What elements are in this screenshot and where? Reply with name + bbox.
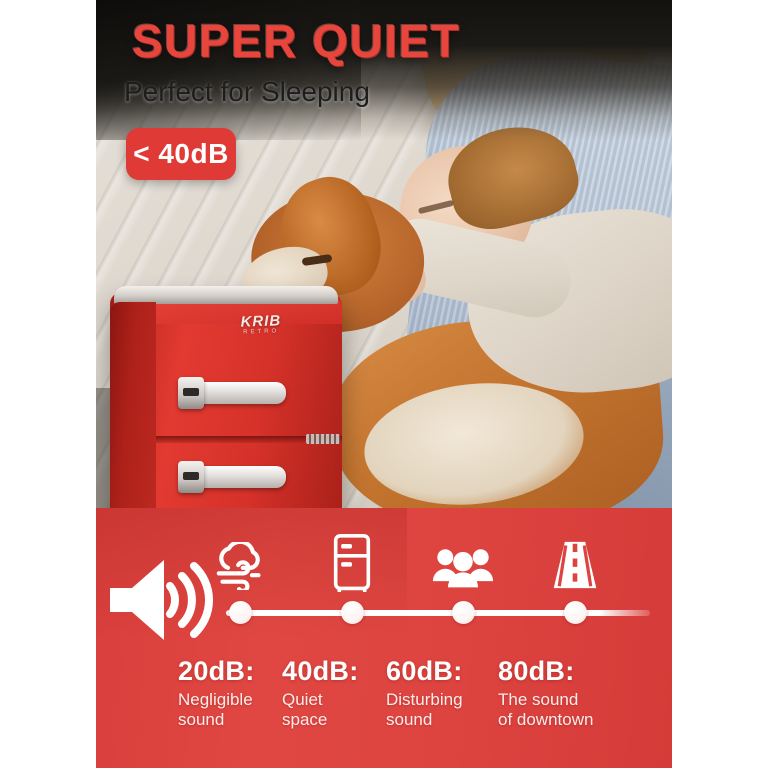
scale-desc-line1: The sound <box>498 690 658 710</box>
scale-desc-line2: sound <box>178 710 280 730</box>
people-group-icon <box>432 532 494 590</box>
scale-dot-80db <box>564 601 587 624</box>
scale-desc: Negligible sound <box>178 690 280 730</box>
scale-desc-line2: space <box>282 710 382 730</box>
scale-dot-60db <box>452 601 475 624</box>
scale-desc-line1: Negligible <box>178 690 280 710</box>
product-refrigerator: KRIB RETRO <box>110 284 342 534</box>
scale-desc: The sound of downtown <box>498 690 658 730</box>
page-title: SUPER QUIET <box>132 14 460 68</box>
fridge-upper-latch <box>178 377 204 409</box>
wind-cloud-icon <box>209 532 271 590</box>
fridge-lower-door-handle <box>182 466 286 488</box>
scale-dot-20db <box>229 601 252 624</box>
brand-logo: KRIB RETRO <box>222 313 301 337</box>
fridge-upper-door-handle <box>182 382 286 404</box>
db-badge: < 40dB <box>126 128 236 180</box>
scale-desc-line1: Quiet <box>282 690 382 710</box>
fridge-side-panel <box>110 302 156 534</box>
scale-desc-line2: sound <box>386 710 498 730</box>
fridge-lower-latch <box>178 461 204 493</box>
scale-desc-line1: Disturbing <box>386 690 498 710</box>
refrigerator-icon <box>321 534 383 592</box>
page-subtitle: Perfect for Sleeping <box>124 76 370 108</box>
db-badge-label: < 40dB <box>133 138 229 170</box>
scale-db-value: 40dB: <box>282 656 382 687</box>
scale-desc-line2: of downtown <box>498 710 658 730</box>
scale-label-60db: 60dB: Disturbing sound <box>386 656 498 730</box>
product-marketing-image: SUPER QUIET Perfect for Sleeping < 40dB … <box>0 0 768 768</box>
scale-db-value: 80dB: <box>498 656 658 687</box>
scale-label-80db: 80dB: The sound of downtown <box>498 656 658 730</box>
scale-desc: Disturbing sound <box>386 690 498 730</box>
scale-db-value: 60dB: <box>386 656 498 687</box>
road-highway-icon <box>544 532 606 590</box>
fridge-vent-grille <box>306 434 340 444</box>
noise-scale-panel: 20dB: Negligible sound 40dB: Quiet space… <box>96 508 672 768</box>
volume-loud-icon <box>104 554 220 646</box>
scale-label-40db: 40dB: Quiet space <box>282 656 382 730</box>
scale-label-20db: 20dB: Negligible sound <box>178 656 280 730</box>
image-panel: SUPER QUIET Perfect for Sleeping < 40dB … <box>96 0 672 768</box>
scale-desc: Quiet space <box>282 690 382 730</box>
scale-dot-40db <box>341 601 364 624</box>
scale-db-value: 20dB: <box>178 656 280 687</box>
